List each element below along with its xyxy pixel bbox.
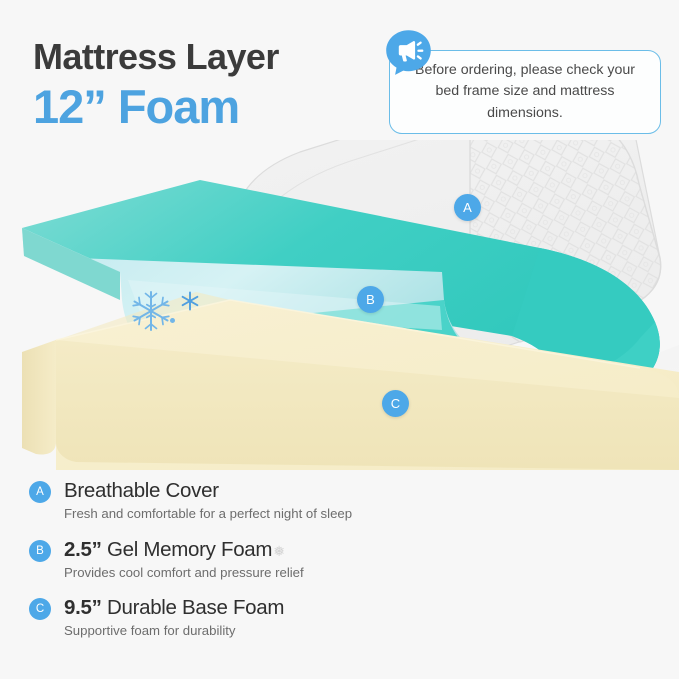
snowflake-small-icon — [180, 291, 200, 311]
legend-item-c: C 9.5” Durable Base Foam Supportive foam… — [29, 595, 459, 640]
legend: A Breathable Cover Fresh and comfortable… — [29, 478, 459, 640]
snowflake-large-icon — [129, 289, 173, 333]
legend-measure-c: 9.5” — [64, 596, 102, 619]
page-title: Mattress Layer 12” Foam — [33, 38, 279, 131]
legend-label-a: Breathable Cover — [64, 479, 219, 502]
legend-title-c: 9.5” Durable Base Foam — [64, 595, 459, 620]
mattress-layer-illustration — [0, 140, 679, 470]
legend-title-b: 2.5” Gel Memory Foam❅ — [64, 537, 459, 562]
legend-sub-a: Fresh and comfortable for a perfect nigh… — [64, 506, 459, 523]
legend-sub-c: Supportive foam for durability — [64, 623, 459, 640]
legend-badge-c: C — [29, 598, 51, 620]
legend-item-b: B 2.5” Gel Memory Foam❅ Provides cool co… — [29, 537, 459, 582]
title-line-1: Mattress Layer — [33, 38, 279, 76]
legend-badge-b: B — [29, 540, 51, 562]
legend-label-b: Gel Memory Foam — [102, 538, 273, 561]
diagram-marker-a[interactable]: A — [454, 194, 481, 221]
diagram-marker-b[interactable]: B — [357, 286, 384, 313]
legend-snowflake-b: ❅ — [273, 543, 284, 559]
legend-item-a: A Breathable Cover Fresh and comfortable… — [29, 478, 459, 523]
legend-label-c: Durable Base Foam — [102, 596, 285, 619]
snowflake-dot-icon — [170, 318, 175, 323]
diagram-marker-c[interactable]: C — [382, 390, 409, 417]
megaphone-icon — [385, 29, 432, 76]
legend-badge-a: A — [29, 481, 51, 503]
infographic-canvas: Mattress Layer 12” Foam Before ordering,… — [0, 0, 679, 679]
legend-sub-b: Provides cool comfort and pressure relie… — [64, 565, 459, 582]
legend-title-a: Breathable Cover — [64, 478, 459, 503]
legend-measure-b: 2.5” — [64, 538, 102, 561]
title-line-2: 12” Foam — [33, 82, 279, 131]
